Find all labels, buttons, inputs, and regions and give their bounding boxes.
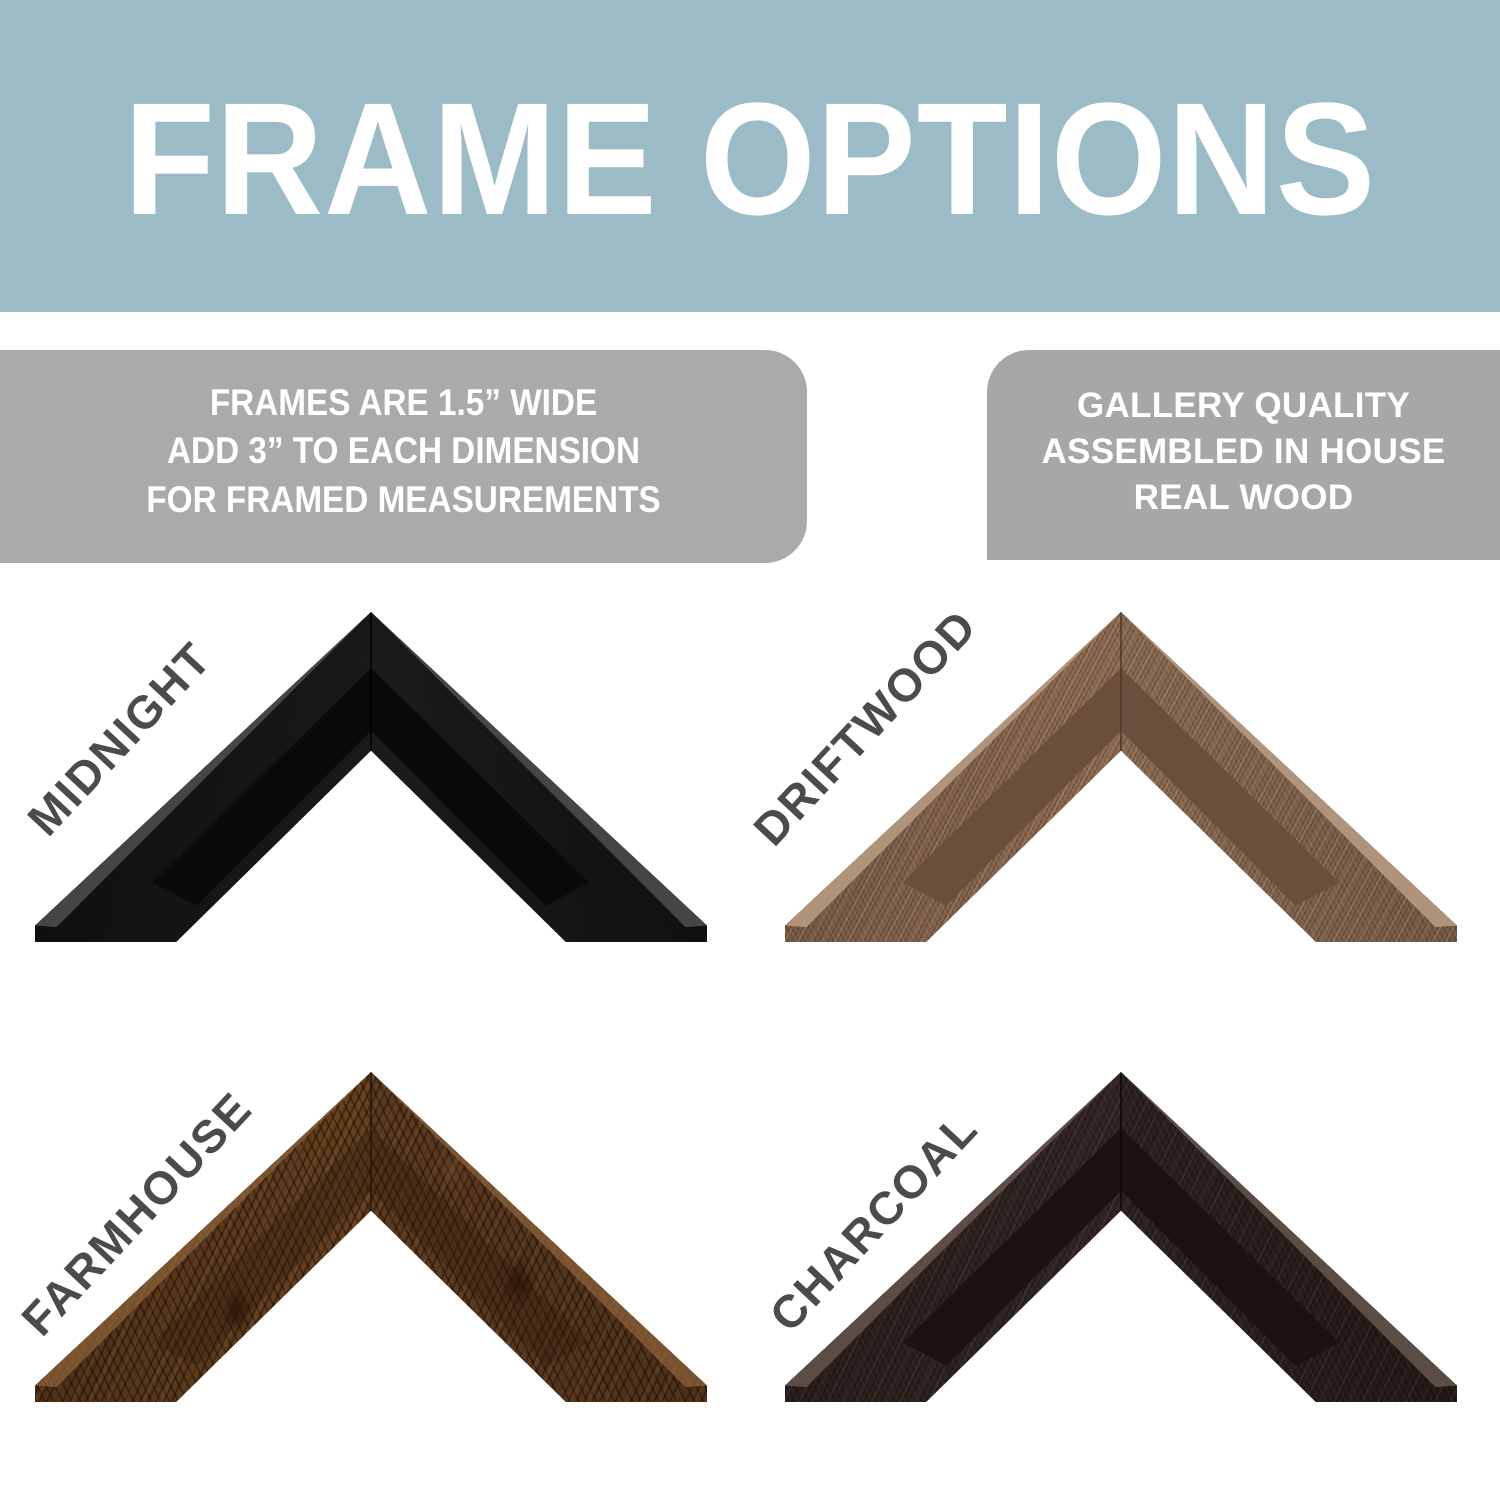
frame-chevron-icon — [785, 612, 1457, 942]
header-banner: FRAME OPTIONS — [0, 0, 1500, 312]
info-line: GALLERY QUALITY — [1077, 383, 1410, 429]
info-line: FRAMES ARE 1.5” WIDE — [210, 379, 597, 427]
frame-corner-sample — [35, 612, 707, 942]
info-line: FOR FRAMED MEASUREMENTS — [146, 476, 660, 524]
info-panel-quality-text: GALLERY QUALITY ASSEMBLED IN HOUSE REAL … — [987, 350, 1500, 560]
frame-option-driftwood[interactable]: DRIFTWOOD — [750, 580, 1500, 1050]
frame-option-charcoal[interactable]: CHARCOAL — [750, 1040, 1500, 1510]
info-line: REAL WOOD — [1134, 475, 1354, 521]
frame-corner-sample — [785, 612, 1457, 942]
frame-option-farmhouse[interactable]: FARMHOUSE — [0, 1040, 750, 1510]
info-panel-measurements: FRAMES ARE 1.5” WIDE ADD 3” TO EACH DIME… — [0, 350, 807, 563]
page-title: FRAME OPTIONS — [53, 0, 1448, 312]
info-line: ASSEMBLED IN HOUSE — [1041, 429, 1445, 475]
frame-chevron-icon — [35, 612, 707, 942]
info-panel-quality: GALLERY QUALITY ASSEMBLED IN HOUSE REAL … — [987, 350, 1500, 560]
info-line: ADD 3” TO EACH DIMENSION — [167, 427, 640, 475]
frame-option-midnight[interactable]: MIDNIGHT — [0, 580, 750, 1050]
info-panel-measurements-text: FRAMES ARE 1.5” WIDE ADD 3” TO EACH DIME… — [40, 350, 766, 563]
